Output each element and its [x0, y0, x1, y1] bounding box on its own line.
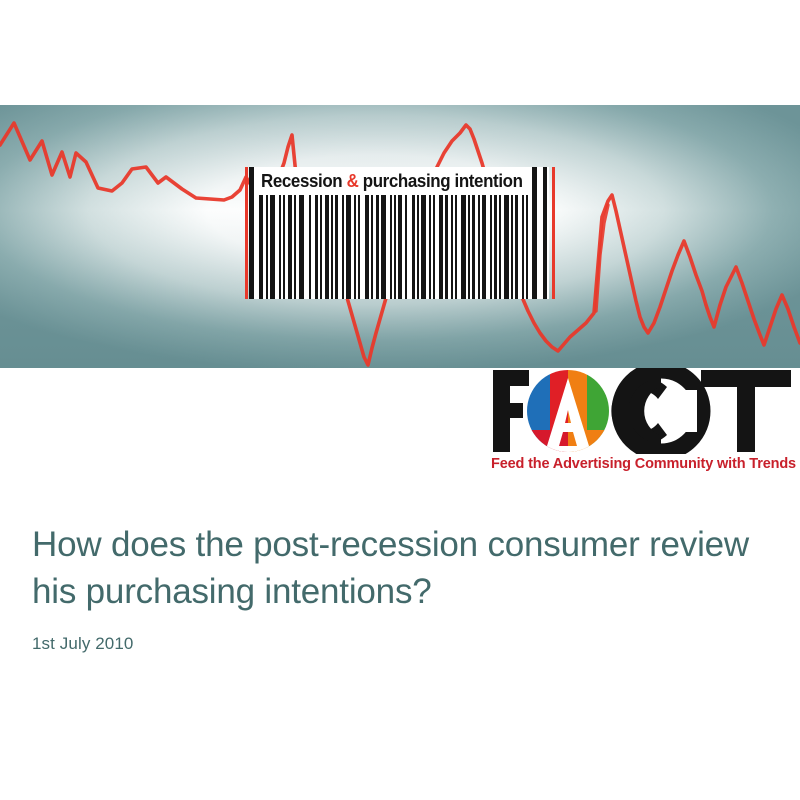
barcode-bar [511, 195, 513, 299]
barcode-bar [522, 195, 524, 299]
barcode-bar [429, 195, 431, 299]
barcode-bar [346, 195, 351, 299]
barcode-bar [358, 195, 360, 299]
barcode-label: Recession & purchasing intention [261, 169, 513, 193]
barcode-bar [451, 195, 453, 299]
barcode-bar [288, 195, 292, 299]
title-block: How does the post-recession consumer rev… [32, 521, 768, 654]
barcode-bar [478, 195, 480, 299]
fact-wordmark [489, 368, 794, 454]
barcode-bar [299, 195, 304, 299]
presentation-slide: Recession & purchasing intention [0, 0, 800, 800]
page-title: How does the post-recession consumer rev… [32, 521, 768, 615]
barcode-bar [279, 195, 281, 299]
barcode-bar [309, 195, 311, 299]
barcode-bar [394, 195, 396, 299]
logo-letter-a-disc [527, 370, 611, 454]
barcode-guard-right [552, 167, 555, 299]
barcode-label-part-2: purchasing intention [358, 171, 522, 191]
barcode-bar [331, 195, 333, 299]
barcode-bar [433, 195, 435, 299]
barcode-bar [490, 195, 492, 299]
barcode-graphic: Recession & purchasing intention [245, 167, 555, 299]
barcode-edge-bar-right [532, 167, 537, 299]
barcode-bar [526, 195, 528, 299]
barcode-bar [371, 195, 373, 299]
barcode-bar [461, 195, 466, 299]
barcode-body: Recession & purchasing intention [249, 167, 549, 299]
barcode-label-ampersand: & [347, 171, 359, 191]
barcode-bar [354, 195, 356, 299]
logo-letter-t [701, 370, 791, 452]
barcode-edge-bar-right2 [543, 167, 547, 299]
barcode-bar [335, 195, 338, 299]
barcode-bar [342, 195, 344, 299]
fact-tagline: Feed the Advertising Community with Tren… [491, 456, 794, 472]
barcode-bar [259, 195, 263, 299]
barcode-guard-left [245, 167, 248, 299]
barcode-bar [445, 195, 448, 299]
barcode-bar [417, 195, 419, 299]
barcode-bar [270, 195, 275, 299]
barcode-bar [325, 195, 329, 299]
barcode-bar [494, 195, 497, 299]
barcode-bar [294, 195, 296, 299]
barcode-bar [398, 195, 402, 299]
barcode-bar [381, 195, 386, 299]
barcode-bar [266, 195, 268, 299]
barcode-bar [320, 195, 322, 299]
barcode-bar [405, 195, 407, 299]
barcode-bar [482, 195, 486, 299]
logo-letter-f [493, 370, 529, 452]
barcode-bar [376, 195, 379, 299]
barcode-bar [421, 195, 426, 299]
fact-logo: Feed the Advertising Community with Tren… [489, 368, 794, 478]
barcode-bar [283, 195, 285, 299]
barcode-bar [365, 195, 369, 299]
barcode-bar [504, 195, 509, 299]
barcode-bar [468, 195, 470, 299]
barcode-bars [259, 195, 529, 299]
barcode-bar [455, 195, 457, 299]
slide-date: 1st July 2010 [32, 634, 768, 654]
barcode-bar [472, 195, 475, 299]
barcode-bar [315, 195, 318, 299]
barcode-bar [439, 195, 443, 299]
barcode-edge-bar-left [249, 167, 254, 299]
barcode-bar [515, 195, 518, 299]
logo-letter-c [611, 370, 702, 452]
barcode-bar [390, 195, 392, 299]
barcode-label-part-1: Recession [261, 171, 347, 191]
barcode-bar [412, 195, 415, 299]
barcode-bar [499, 195, 501, 299]
